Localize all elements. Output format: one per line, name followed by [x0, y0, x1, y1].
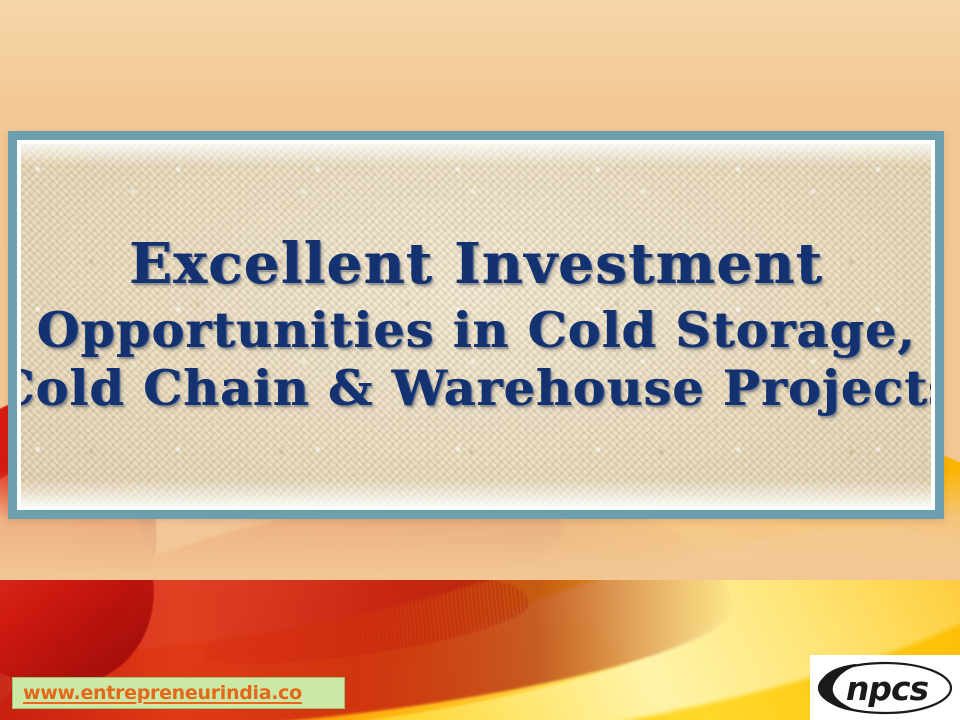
title-card-parchment-panel: Excellent Investment Opportunities in Co…	[17, 140, 935, 510]
npcs-logo: npcs	[810, 655, 960, 720]
orange-halftone-streak	[197, 561, 534, 676]
yellow-orange-sweep-shape	[0, 0, 882, 36]
title-card: Excellent Investment Opportunities in Co…	[8, 131, 944, 519]
website-url-link[interactable]: www.entrepreneurindia.co	[13, 682, 302, 704]
presentation-slide: Excellent Investment Opportunities in Co…	[0, 0, 960, 720]
website-url-bar[interactable]: www.entrepreneurindia.co	[12, 677, 345, 709]
slide-title-line-1: Excellent Investment	[129, 235, 823, 294]
slide-title-line-2: Opportunities in Cold Storage,	[37, 305, 916, 357]
slide-title-line-3: Cold Chain & Warehouse Projects	[17, 363, 935, 415]
logo-wordmark: npcs	[846, 669, 929, 708]
npcs-logo-mark: npcs	[815, 659, 955, 717]
